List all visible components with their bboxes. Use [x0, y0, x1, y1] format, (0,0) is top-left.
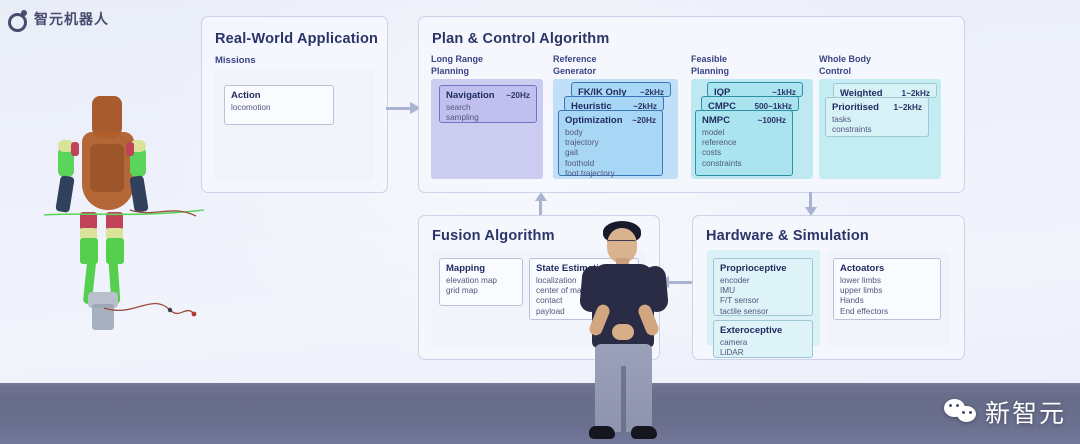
- card-nmpc-body: model reference costs constraints: [702, 128, 786, 169]
- card-prioritised[interactable]: Prioritised 1~2kHz tasks constraints: [825, 97, 929, 137]
- card-action[interactable]: Action locomotion: [224, 85, 334, 125]
- card-exteroceptive-title: Exteroceptive: [720, 325, 782, 336]
- presenter-shoe-right: [631, 426, 657, 439]
- presenter-shoe-left: [589, 426, 615, 439]
- card-navigation-title: Navigation: [446, 90, 495, 101]
- card-actoators-body: lower limbs upper limbs Hands End effect…: [840, 276, 934, 317]
- card-cmpc[interactable]: CMPC 500~1kHz: [701, 96, 799, 111]
- presenter: [571, 216, 677, 444]
- watermark: 新智元: [944, 394, 1066, 430]
- sub-label-reference-generator: Reference Generator: [553, 54, 597, 77]
- card-optimization[interactable]: Optimization ~20Hz body trajectory gait …: [558, 110, 663, 176]
- card-proprioceptive[interactable]: Proprioceptive encoder IMU F/T sensor ta…: [713, 258, 813, 316]
- card-action-body: locomotion: [231, 103, 327, 113]
- card-prioritised-body: tasks constraints: [832, 115, 922, 135]
- sub-label-whole-body-control: Whole Body Control: [819, 54, 871, 77]
- card-nmpc[interactable]: NMPC ~100Hz model reference costs constr…: [695, 110, 793, 176]
- panel-hardware-simulation: Hardware & Simulation Proprioceptive enc…: [692, 215, 965, 360]
- stage-floor: [0, 383, 1080, 444]
- card-nmpc-title: NMPC: [702, 115, 730, 126]
- arrow-plan-to-hardware: [804, 192, 818, 216]
- card-navigation[interactable]: Navigation ~20Hz search sampling: [439, 85, 537, 123]
- sub-label-feasible-planning: Feasible Planning: [691, 54, 729, 77]
- presenter-leg-gap: [621, 366, 626, 432]
- arrow-app-to-plan: [386, 102, 421, 114]
- card-iqp[interactable]: IQP ~1kHz: [707, 82, 803, 97]
- card-actoators[interactable]: Actoators lower limbs upper limbs Hands …: [833, 258, 941, 320]
- card-prioritised-title: Prioritised: [832, 102, 879, 113]
- card-exteroceptive[interactable]: Exteroceptive camera LiDAR: [713, 320, 813, 358]
- card-mapping[interactable]: Mapping elevation map grid map: [439, 258, 523, 306]
- panel-title-real-world-application: Real-World Application: [215, 31, 378, 47]
- card-action-title: Action: [231, 90, 261, 101]
- card-exteroceptive-body: camera LiDAR: [720, 338, 806, 358]
- card-heuristic[interactable]: Heuristic ~2kHz: [564, 96, 664, 111]
- brand-name: 智元机器人: [34, 9, 109, 29]
- brand-logo: 智元机器人: [8, 9, 109, 29]
- watermark-text: 新智元: [985, 394, 1066, 430]
- arrow-fusion-to-plan: [534, 192, 548, 216]
- card-proprioceptive-body: encoder IMU F/T sensor tactile sensor: [720, 276, 806, 317]
- panel-title-fusion-algorithm: Fusion Algorithm: [432, 228, 555, 244]
- panel-title-hardware-simulation: Hardware & Simulation: [706, 228, 869, 244]
- panel-title-plan-control-algorithm: Plan & Control Algorithm: [432, 31, 609, 47]
- card-fk-ik-only[interactable]: FK/IK Only ~2kHz: [571, 82, 671, 97]
- robot-trajectory-lines: [44, 92, 204, 342]
- card-nmpc-hz: ~100Hz: [758, 116, 786, 125]
- robot-visualization: [44, 92, 204, 342]
- card-optimization-title: Optimization: [565, 115, 623, 126]
- card-navigation-body: search sampling: [446, 103, 530, 123]
- presenter-hands: [612, 324, 634, 340]
- card-prioritised-hz: 1~2kHz: [894, 103, 922, 112]
- presenter-glasses: [607, 240, 636, 247]
- card-actoators-title: Actoators: [840, 263, 884, 274]
- panel-plan-control-algorithm: Plan & Control Algorithm Long Range Plan…: [418, 16, 965, 193]
- sub-label-long-range-planning: Long Range Planning: [431, 54, 483, 77]
- card-optimization-body: body trajectory gait foothold foot traje…: [565, 128, 656, 179]
- card-proprioceptive-title: Proprioceptive: [720, 263, 787, 274]
- card-weighted[interactable]: Weighted 1~2kHz: [833, 83, 937, 98]
- card-mapping-body: elevation map grid map: [446, 276, 516, 296]
- sub-label-missions: Missions: [215, 55, 256, 67]
- card-mapping-title: Mapping: [446, 263, 485, 274]
- card-navigation-hz: ~20Hz: [506, 91, 530, 100]
- panel-real-world-application: Real-World Application Missions Action l…: [201, 16, 388, 193]
- card-optimization-hz: ~20Hz: [632, 116, 656, 125]
- presentation-scene: 智元机器人 Real-Wo: [0, 0, 1080, 444]
- wechat-icon: [944, 399, 978, 425]
- agibot-logo-icon: [8, 10, 28, 28]
